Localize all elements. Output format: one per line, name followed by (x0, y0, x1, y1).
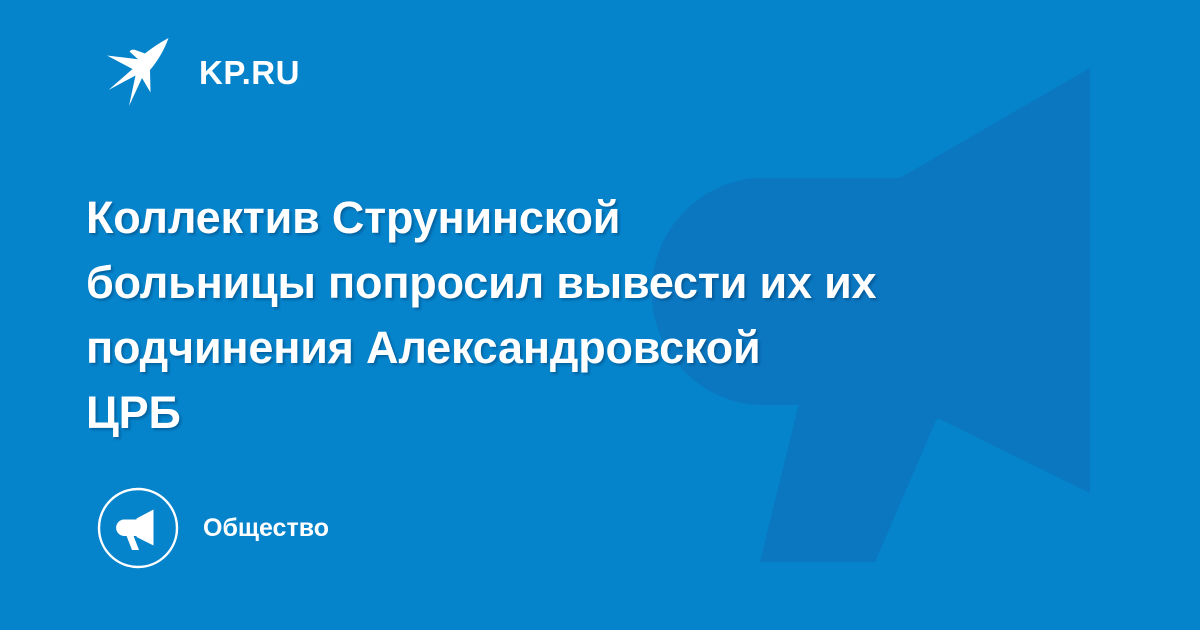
category-badge[interactable]: Общество (97, 487, 329, 569)
headline: Коллектив Струнинской больницы попросил … (86, 185, 1096, 445)
site-logo[interactable]: KP.RU (105, 36, 300, 108)
megaphone-icon (97, 487, 179, 569)
social-share-card: KP.RU Коллектив Струнинской больницы поп… (0, 0, 1200, 630)
headline-line-4: ЦРБ (86, 380, 1096, 445)
swallow-bird-icon (105, 36, 179, 108)
headline-line-2: больницы попросил вывести их их (86, 250, 1096, 315)
headline-line-1: Коллектив Струнинской (86, 185, 1096, 250)
headline-line-3: подчинения Александровской (86, 315, 1096, 380)
category-label: Общество (203, 516, 329, 541)
logo-wordmark: KP.RU (199, 56, 300, 89)
